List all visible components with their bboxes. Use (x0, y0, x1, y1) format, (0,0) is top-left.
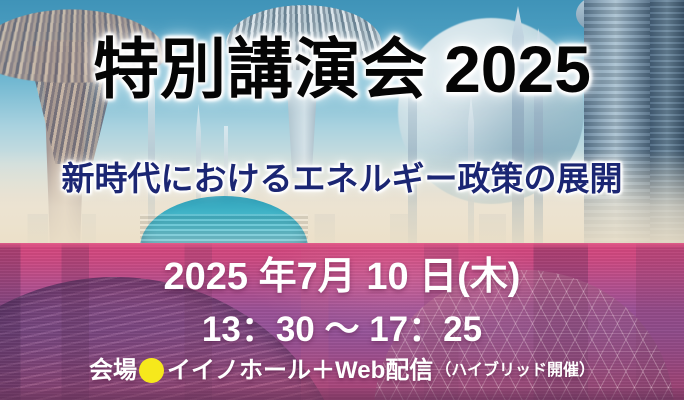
event-poster: 特別講演会2025 新時代におけるエネルギー政策の展開 2025 年7月 10 … (0, 0, 684, 400)
poster-title-main: 特別講演会 (93, 32, 428, 106)
poster-subtitle: 新時代におけるエネルギー政策の展開 (0, 162, 684, 195)
poster-title: 特別講演会2025 (0, 36, 684, 102)
event-venue: 会場 イイノホール＋Web配信 （ハイブリッド開催） (0, 358, 684, 383)
event-date: 2025 年7月 10 日(木) (0, 258, 684, 296)
venue-note: （ハイブリッド開催） (435, 363, 595, 379)
event-time: 13：30 ～ 17：25 (0, 312, 684, 347)
venue-label: 会場 (89, 359, 137, 383)
yellow-circle-bullet-icon (139, 358, 164, 383)
venue-name: イイノホール＋Web配信 (167, 359, 433, 383)
poster-title-year: 2025 (444, 32, 591, 106)
poster-text-layer: 特別講演会2025 新時代におけるエネルギー政策の展開 2025 年7月 10 … (0, 0, 684, 400)
